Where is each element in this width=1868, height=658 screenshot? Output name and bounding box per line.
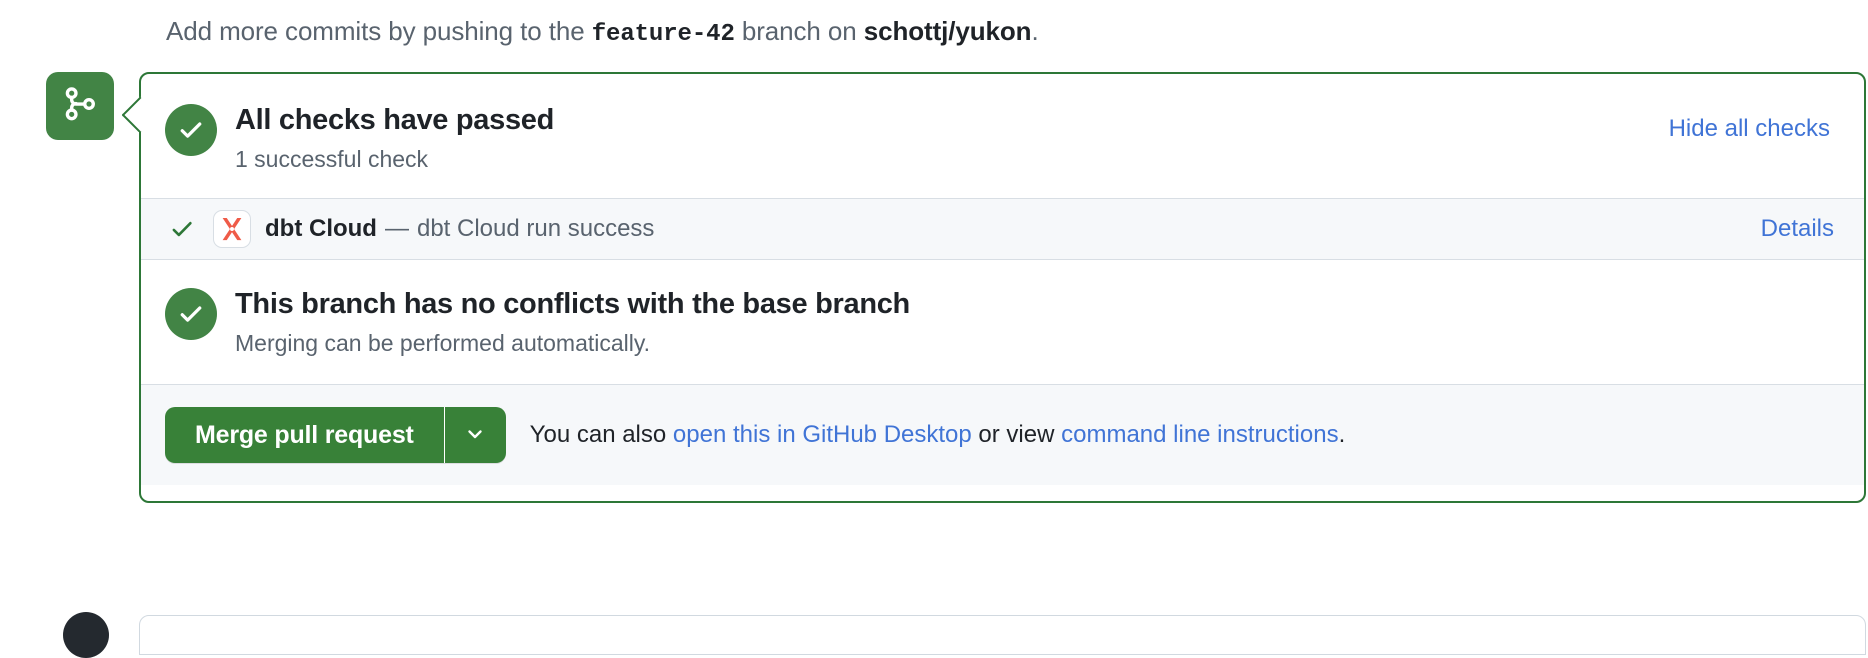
- push-more-commits-notice: Add more commits by pushing to the featu…: [166, 15, 1039, 51]
- footer-note-suffix: .: [1339, 421, 1346, 448]
- chevron-down-icon: [463, 422, 487, 449]
- notice-suffix: .: [1031, 16, 1038, 46]
- check-details-link[interactable]: Details: [1761, 214, 1834, 244]
- command-line-instructions-link[interactable]: command line instructions: [1061, 421, 1338, 448]
- next-timeline-item: [139, 615, 1866, 655]
- notice-middle: branch on: [742, 16, 857, 46]
- conflicts-subtitle: Merging can be performed automatically.: [235, 328, 1834, 358]
- conflicts-text: This branch has no conflicts with the ba…: [235, 286, 1834, 358]
- footer-note-middle: or view: [978, 421, 1054, 448]
- avatar[interactable]: [63, 612, 109, 658]
- conflicts-title: This branch has no conflicts with the ba…: [235, 286, 1834, 322]
- notice-prefix: Add more commits by pushing to the: [166, 16, 585, 46]
- dbt-cloud-logo-icon: [213, 210, 251, 248]
- check-icon: [165, 215, 199, 243]
- merge-footer-note: You can also open this in GitHub Desktop…: [530, 420, 1346, 450]
- merge-box: All checks have passed 1 successful chec…: [139, 72, 1866, 503]
- merge-footer: Merge pull request You can also open thi…: [141, 384, 1864, 485]
- footer-note-prefix: You can also: [530, 421, 667, 448]
- hide-all-checks-link[interactable]: Hide all checks: [1669, 114, 1834, 144]
- checks-summary-text: All checks have passed 1 successful chec…: [235, 102, 1669, 174]
- check-row[interactable]: dbt Cloud — dbt Cloud run success Detail…: [141, 198, 1864, 260]
- branch-name: feature-42: [592, 21, 735, 48]
- merge-pull-request-button[interactable]: Merge pull request: [165, 407, 444, 463]
- github-desktop-link[interactable]: open this in GitHub Desktop: [673, 421, 972, 448]
- callout-caret: [122, 96, 144, 132]
- check-circle-icon: [165, 288, 217, 340]
- check-circle-icon: [165, 104, 217, 156]
- git-branch-icon: [62, 86, 98, 127]
- checks-summary-header: All checks have passed 1 successful chec…: [141, 74, 1864, 198]
- merge-button-group: Merge pull request: [165, 407, 506, 463]
- conflicts-section: This branch has no conflicts with the ba…: [141, 260, 1864, 384]
- checks-subtitle: 1 successful check: [235, 144, 1669, 174]
- repository-name: schottj/yukon: [864, 16, 1032, 46]
- checks-title: All checks have passed: [235, 102, 1669, 138]
- check-description: dbt Cloud run success: [417, 215, 654, 243]
- merge-status-badge: [46, 72, 114, 140]
- check-dash: —: [385, 215, 409, 243]
- check-name: dbt Cloud: [265, 215, 377, 243]
- merge-options-dropdown-button[interactable]: [444, 407, 506, 463]
